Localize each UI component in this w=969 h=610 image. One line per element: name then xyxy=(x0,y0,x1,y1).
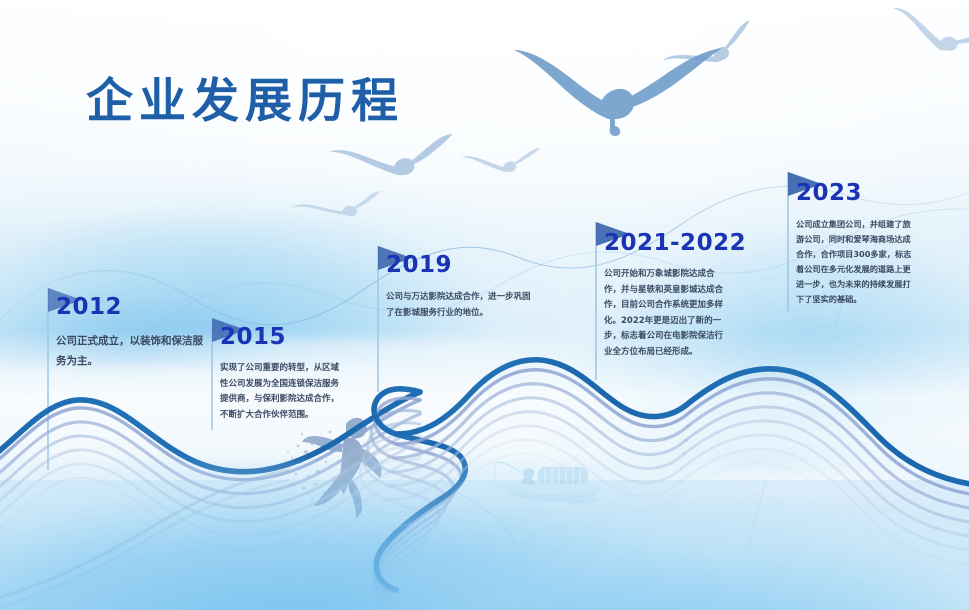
ribbon-bottom-tail xyxy=(0,470,288,610)
page-title: 企业发展历程 xyxy=(86,62,404,131)
bird-far-left-icon xyxy=(659,20,759,78)
bird-large-icon xyxy=(514,48,722,136)
milestone-year: 2015 xyxy=(220,326,342,349)
ribbon-center-loop xyxy=(356,398,461,608)
ribbon-center-hump xyxy=(384,370,690,528)
bird-medium-icon xyxy=(330,134,453,175)
bird-small-icon xyxy=(461,148,540,172)
milestone-description: 公司与万达影院达成合作，进一步巩固了在影城服务行业的地位。 xyxy=(386,289,534,321)
milestone-description: 公司成立集团公司，并组建了旅游公司，同时和爱琴海商场达成合作，合作项目300多家… xyxy=(796,217,914,307)
milestone-year: 2021-2022 xyxy=(604,232,746,255)
ribbon-right-edge xyxy=(690,369,969,486)
milestone-year: 2023 xyxy=(796,182,914,205)
milestone-2023[interactable]: 2023 公司成立集团公司，并组建了旅游公司，同时和爱琴海商场达成合作，合作项目… xyxy=(796,182,914,307)
ribbon-right-band xyxy=(678,379,969,580)
mountain-wash-bottom-2 xyxy=(300,500,969,610)
ribbon-center-edge xyxy=(374,389,465,590)
milestone-2015[interactable]: 2015 实现了公司重要的转型，从区域性公司发展为全国连锁保洁服务提供商，与保利… xyxy=(220,326,342,423)
timeline-poster: 企业发展历程 2012 公司正式成立，以装饰和保洁服务为主。 2015 实现了公… xyxy=(0,0,969,610)
milestone-2019[interactable]: 2019 公司与万达影院达成合作，进一步巩固了在影城服务行业的地位。 xyxy=(386,254,534,321)
milestone-description: 实现了公司重要的转型，从区域性公司发展为全国连锁保洁服务提供商，与保利影院达成合… xyxy=(220,361,342,423)
bird-left-icon xyxy=(292,191,381,216)
milestone-year: 2019 xyxy=(386,254,534,277)
milestone-2021-2022[interactable]: 2021-2022 公司开始和万象城影院达成合作，并与星轶和英皇影城达成合作，目… xyxy=(604,232,746,360)
bird-top-right-icon xyxy=(885,0,969,66)
running-man-silhouette xyxy=(287,418,382,518)
milestone-description: 公司正式成立，以装饰和保洁服务为主。 xyxy=(56,331,206,371)
ribbon-left-band xyxy=(0,400,420,564)
ribbon-left-edge xyxy=(0,392,420,472)
milestone-description: 公司开始和万象城影院达成合作，并与星轶和英皇影城达成合作，目前公司合作系统更加多… xyxy=(604,267,726,360)
milestone-year: 2012 xyxy=(56,296,206,319)
milestone-2012[interactable]: 2012 公司正式成立，以装饰和保洁服务为主。 xyxy=(56,296,206,371)
ribbon-hump-edge xyxy=(396,360,690,434)
mountain-wash-bottom xyxy=(0,460,969,610)
fishing-boat-silhouette xyxy=(495,462,603,511)
